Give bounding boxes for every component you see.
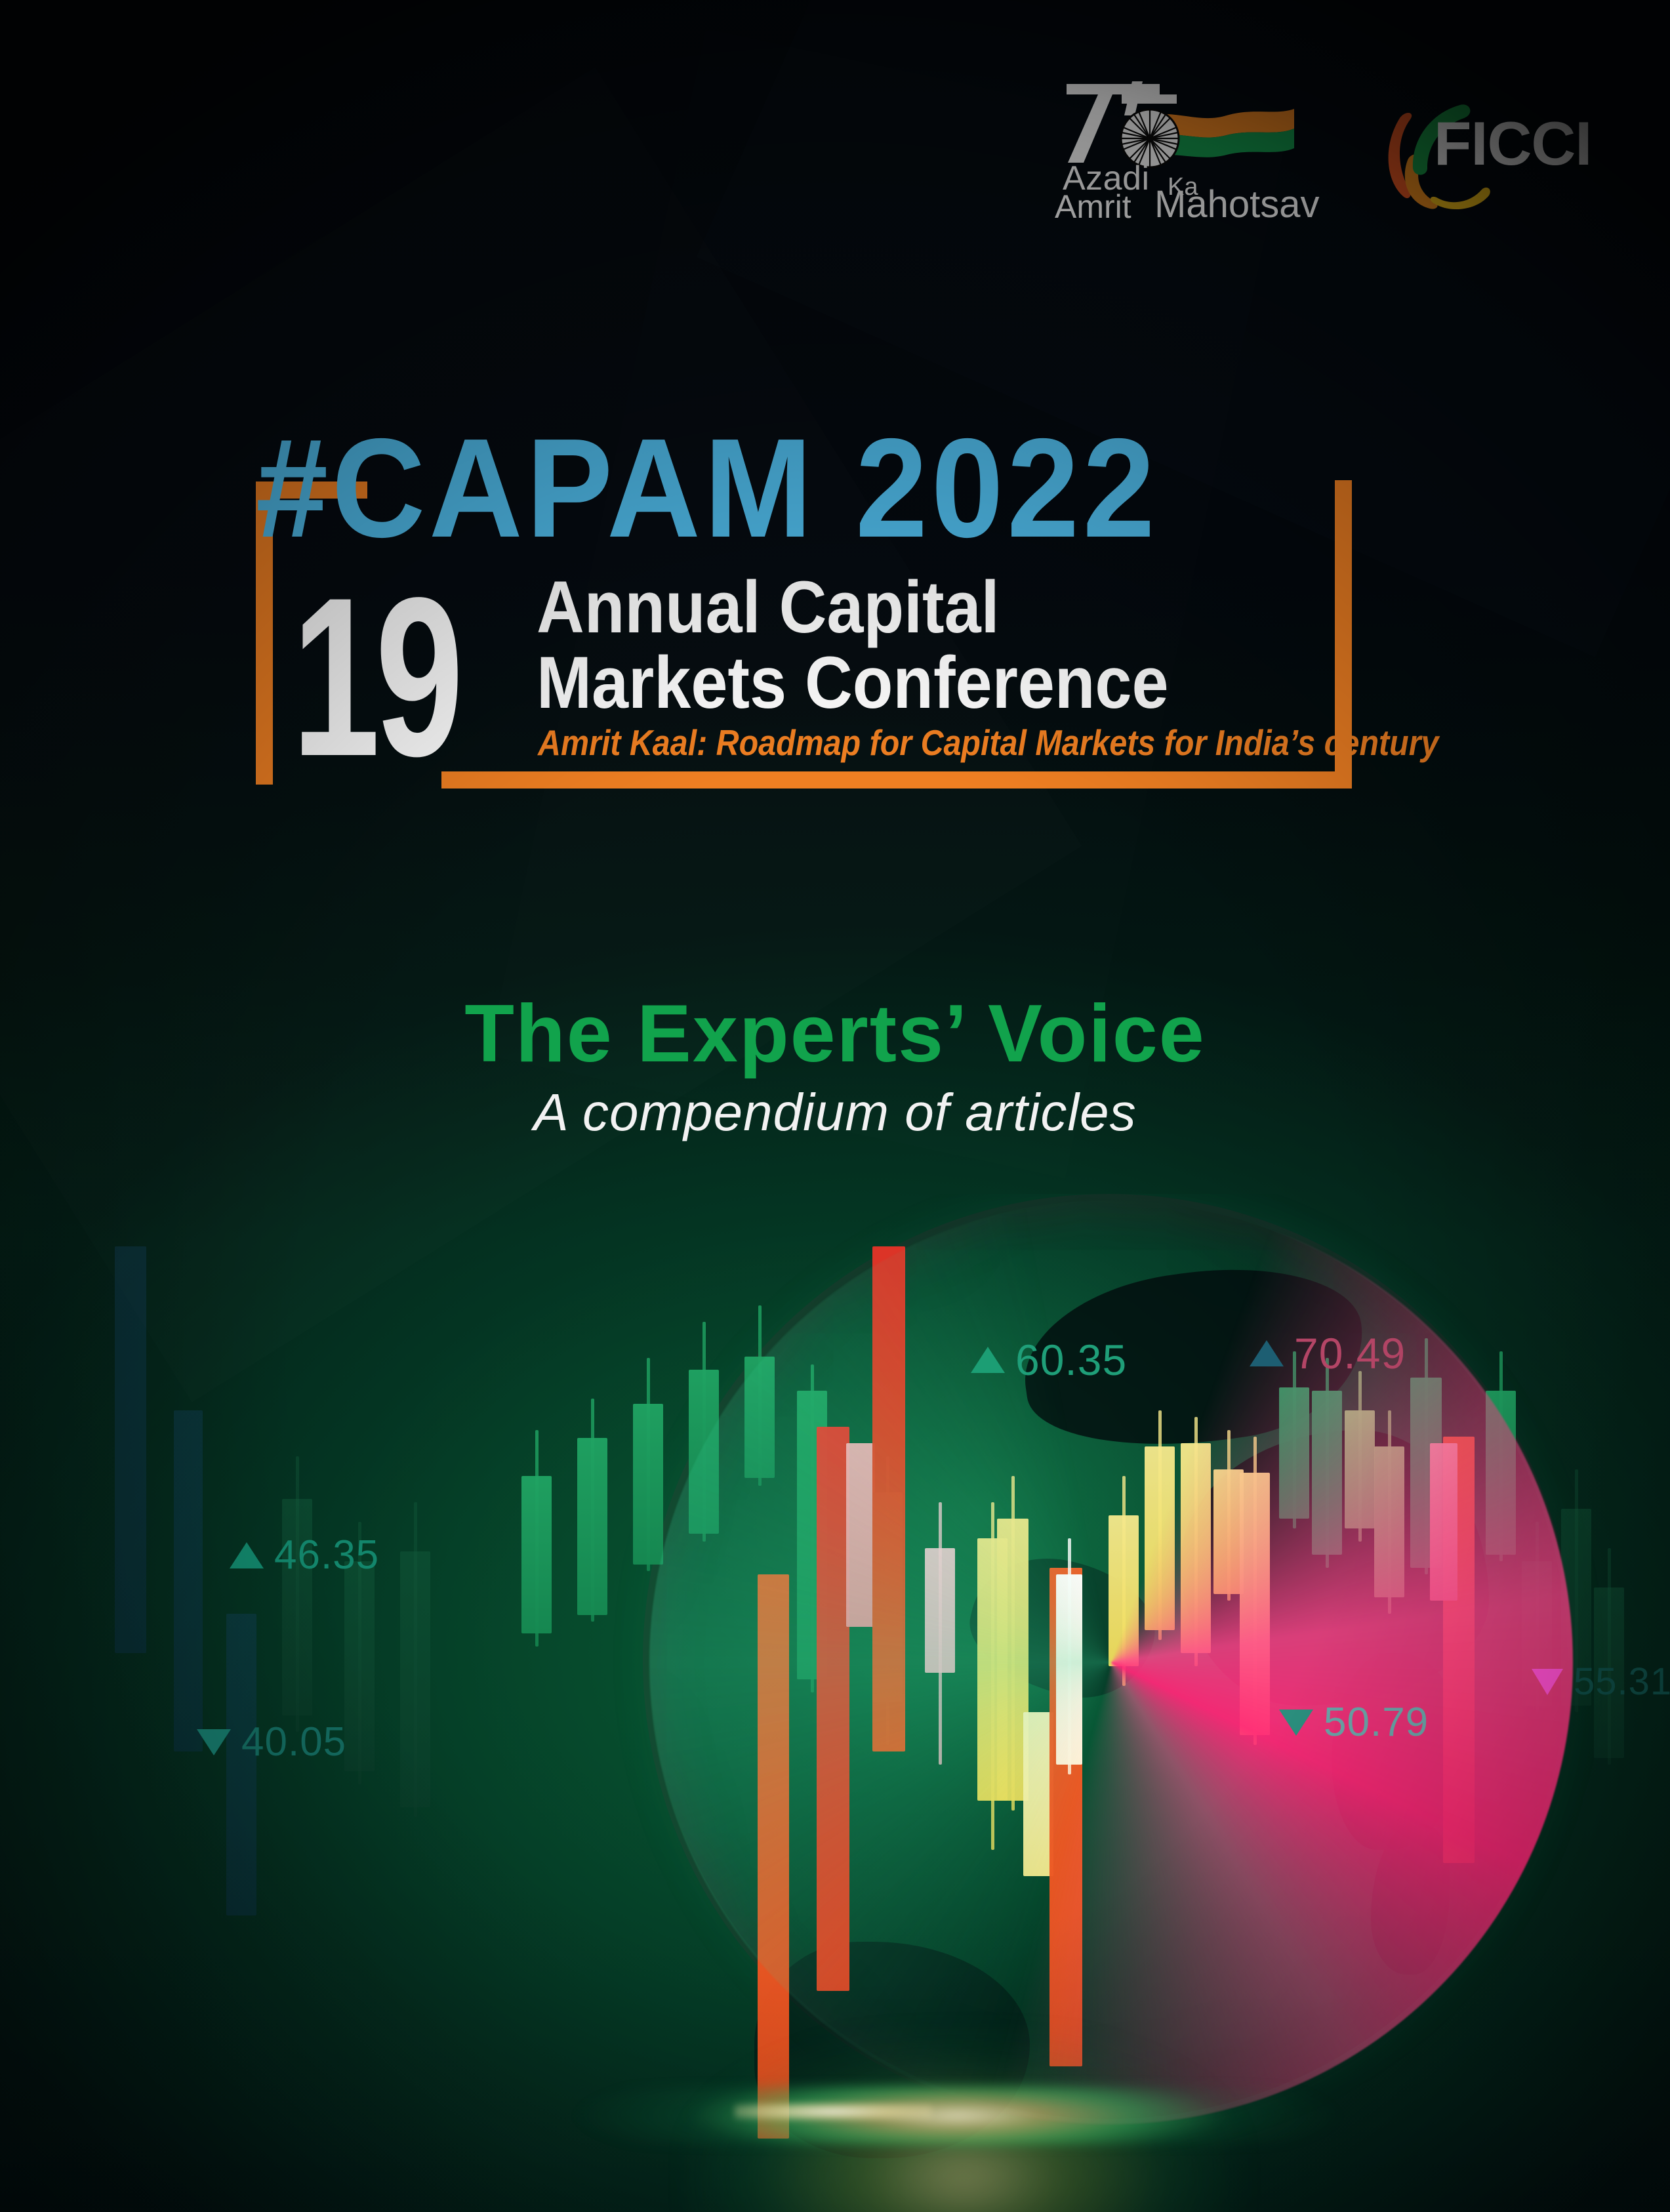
conference-name-line2: Markets Conference: [537, 645, 1263, 720]
data-callout-60: 60.35: [971, 1335, 1127, 1385]
data-callout-value: 46.35: [274, 1532, 379, 1578]
data-callout-70: 70.49: [1250, 1328, 1406, 1378]
azadi-ka-amrit-mahotsav-logo: Azadi Ka Amrit Mahotsav: [1049, 72, 1332, 223]
conference-title-block: #CAPAM 2022 19 Annual Capital Markets Co…: [256, 433, 1397, 833]
data-callout-50: 50.79: [1279, 1699, 1429, 1746]
candle-bar: [633, 1404, 663, 1565]
triangle-up-icon: [1250, 1340, 1284, 1366]
publication-subtitle: A compendium of articles: [0, 1082, 1670, 1143]
ficci-logo: FICCI: [1371, 85, 1561, 210]
data-callout-value: 50.79: [1324, 1699, 1429, 1746]
data-callout-40: 40.05: [197, 1719, 346, 1765]
page-title-hashtag: #CAPAM 2022: [256, 417, 1282, 558]
header-logos: Azadi Ka Amrit Mahotsav FICCI: [1049, 72, 1548, 223]
candle-bar: [115, 1246, 146, 1653]
frame-bottom-bar: [441, 771, 1352, 789]
triangle-up-icon: [971, 1347, 1005, 1373]
conference-name-line1: Annual Capital: [537, 569, 1263, 645]
triangle-down-icon: [1532, 1669, 1563, 1695]
candle-bar: [400, 1551, 430, 1807]
candle-bar: [344, 1561, 375, 1771]
candle-bar: [174, 1410, 203, 1751]
publication-title: The Experts’ Voice: [0, 987, 1670, 1080]
azadi-word-mahotsav: Mahotsav: [1154, 182, 1319, 226]
lens-flare-core: [735, 2103, 931, 2120]
data-callout-55: 55.31: [1532, 1660, 1670, 1704]
candle-bar: [521, 1476, 552, 1633]
triangle-down-icon: [197, 1729, 231, 1755]
azadi-word-amrit: Amrit: [1055, 188, 1131, 226]
conference-name: Annual Capital Markets Conference: [537, 569, 1343, 721]
cover-page: Azadi Ka Amrit Mahotsav FICCI #CAPAM 202…: [0, 0, 1670, 2212]
data-callout-value: 70.49: [1294, 1328, 1406, 1378]
triangle-up-icon: [230, 1542, 264, 1568]
data-callout-value: 55.31: [1574, 1660, 1670, 1704]
data-callout-value: 60.35: [1015, 1335, 1127, 1385]
ficci-wordmark: FICCI: [1434, 113, 1591, 174]
horizontal-lens-flare: [499, 2086, 1417, 2145]
data-callout-46: 46.35: [230, 1532, 379, 1578]
azadi-wordmark: Azadi Ka Amrit Mahotsav: [1049, 159, 1332, 223]
conference-tagline: Amrit Kaal: Roadmap for Capital Markets …: [538, 722, 1438, 764]
data-callout-value: 40.05: [241, 1719, 346, 1765]
triangle-down-icon: [1279, 1710, 1313, 1736]
candle-bar: [577, 1438, 607, 1615]
edition-number: 19: [292, 564, 459, 790]
